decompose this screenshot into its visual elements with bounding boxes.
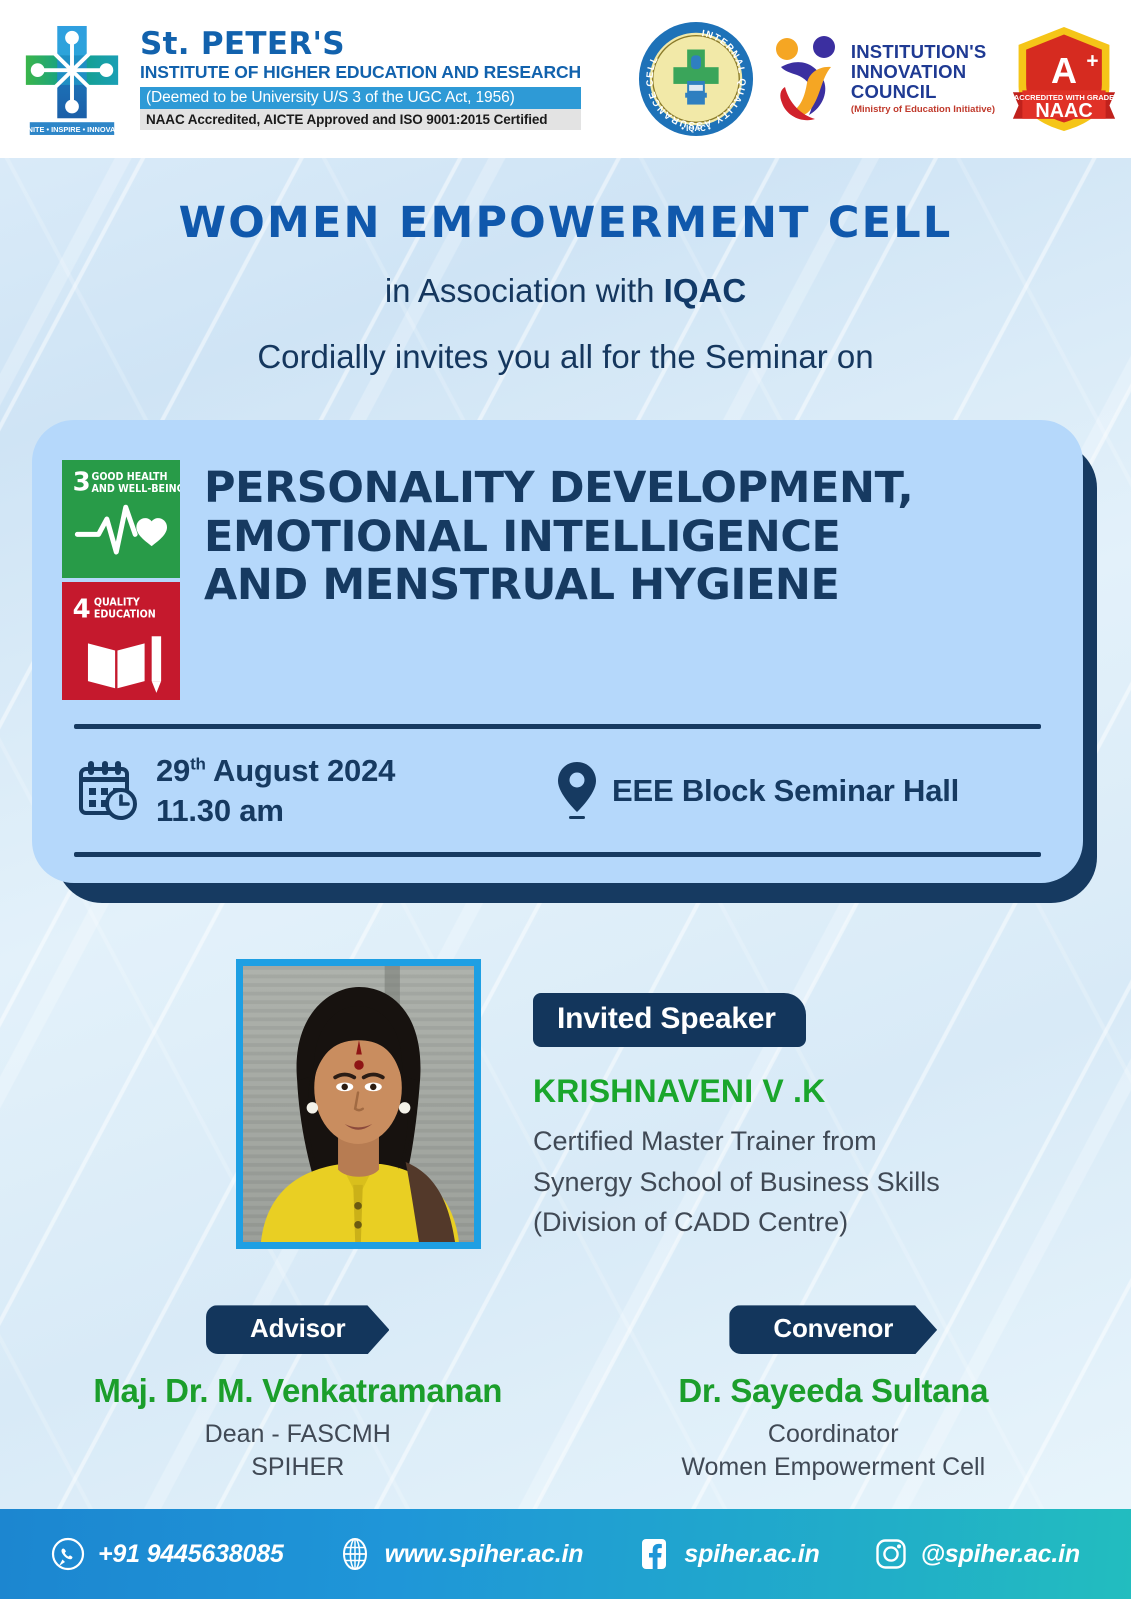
facebook-icon (637, 1537, 671, 1571)
event-meta-row: 29th August 2024 11.30 am EEE Block Semi… (76, 751, 1039, 830)
event-date-rest: August 2024 (206, 753, 395, 788)
invited-speaker-badge: Invited Speaker (533, 993, 806, 1047)
speaker-portrait-image (243, 966, 474, 1242)
location-pin-icon (556, 760, 598, 822)
speaker-detail-3: (Division of CADD Centre) (533, 1203, 940, 1241)
event-venue-block: EEE Block Seminar Hall (556, 760, 1039, 822)
university-identity: St. PETER'S INSTITUTE OF HIGHER EDUCATIO… (140, 28, 581, 130)
poster-header: IGNITE • INSPIRE • INNOVATE St. PETER'S … (0, 0, 1131, 158)
footer-facebook-text: spiher.ac.in (684, 1540, 819, 1569)
header-logo-group: INTERNAL QUALITY ASSURANCE CELL • IQAC • (637, 20, 1117, 138)
sdg-4-quality-education-icon: 4 QUALITY EDUCATION (62, 582, 180, 700)
person-advisor: Advisor Maj. Dr. M. Venkatramanan Dean -… (30, 1305, 566, 1483)
convenor-name: Dr. Sayeeda Sultana (566, 1372, 1102, 1410)
naac-a-plus-badge-icon: A + ACCREDITED WITH GRADE NAAC (1011, 24, 1117, 134)
svg-text:+: + (1086, 50, 1098, 73)
event-date-ordinal: th (190, 755, 206, 774)
footer-contact-phone[interactable]: +91 9445638085 (51, 1537, 284, 1571)
event-date-line: 29th August 2024 (156, 751, 395, 791)
footer-phone-text: +91 9445638085 (98, 1540, 284, 1569)
association-prefix: in Association with (385, 272, 664, 309)
university-subtitle: INSTITUTE OF HIGHER EDUCATION AND RESEAR… (140, 62, 581, 84)
svg-text:4: 4 (73, 594, 91, 624)
speaker-name: KRISHNAVENI V .K (533, 1073, 940, 1110)
footer-instagram-text: @spiher.ac.in (921, 1540, 1080, 1569)
iic-line-1: INSTITUTION'S (851, 42, 995, 62)
footer-contact-instagram[interactable]: @spiher.ac.in (874, 1537, 1080, 1571)
svg-text:• IQAC •: • IQAC • (681, 124, 711, 133)
person-convenor: Convenor Dr. Sayeeda Sultana Coordinator… (566, 1305, 1102, 1483)
card-divider-bottom (74, 852, 1041, 857)
women-empowerment-cell-title: WOMEN EMPOWERMENT CELL (0, 198, 1131, 248)
sdg4-label-2: EDUCATION (94, 607, 156, 620)
spiher-cross-logo-icon: IGNITE • INSPIRE • INNOVATE (18, 20, 126, 138)
sdg-3-good-health-icon: 3 GOOD HEALTH AND WELL-BEING (62, 460, 180, 578)
footer-website-text: www.spiher.ac.in (385, 1540, 584, 1569)
convenor-role-badge: Convenor (729, 1305, 937, 1354)
card-divider-top (74, 724, 1041, 729)
advisor-sub-1: Dean - FASCMH (30, 1418, 566, 1451)
deemed-university-bar: (Deemed to be University U/S 3 of the UG… (140, 87, 581, 109)
advisor-name: Maj. Dr. M. Venkatramanan (30, 1372, 566, 1410)
globe-icon (338, 1537, 372, 1571)
contact-footer: +91 9445638085 www.spiher.ac.in spiher.a… (0, 1509, 1131, 1599)
speaker-detail-1: Certified Master Trainer from (533, 1122, 940, 1160)
topic-line-3: AND MENSTRUAL HYGIENE (204, 561, 1053, 610)
seminar-topic-title: PERSONALITY DEVELOPMENT, EMOTIONAL INTEL… (204, 454, 1053, 610)
svg-text:A: A (1051, 50, 1077, 91)
invitation-headings: WOMEN EMPOWERMENT CELL in Association wi… (0, 158, 1131, 376)
convenor-sub-2: Women Empowerment Cell (566, 1451, 1102, 1484)
iqac-seal-icon: INTERNAL QUALITY ASSURANCE CELL • IQAC • (637, 20, 755, 138)
advisor-role-badge: Advisor (206, 1305, 389, 1354)
iic-line-3: COUNCIL (851, 82, 995, 102)
seminar-topic-card: 3 GOOD HEALTH AND WELL-BEING 4 QUALITY E… (32, 420, 1083, 883)
advisor-sub-2: SPIHER (30, 1451, 566, 1484)
invited-speaker-section: Invited Speaker KRISHNAVENI V .K Certifi… (0, 959, 1131, 1249)
event-date-time-text: 29th August 2024 11.30 am (156, 751, 395, 830)
event-time: 11.30 am (156, 791, 395, 831)
iic-figure-icon (771, 33, 845, 125)
university-name: St. PETER'S (140, 28, 581, 61)
iic-line-2: INNOVATION (851, 62, 995, 82)
event-date-block: 29th August 2024 11.30 am (76, 751, 546, 830)
instagram-icon (874, 1537, 908, 1571)
association-org: IQAC (664, 272, 747, 309)
naac-label-text: NAAC (1035, 100, 1092, 122)
footer-contact-website[interactable]: www.spiher.ac.in (338, 1537, 584, 1571)
topic-line-2: EMOTIONAL INTELLIGENCE (204, 513, 1053, 562)
iic-ministry-note: (Ministry of Education Initiative) (851, 105, 995, 115)
logo-tagline: IGNITE • INSPIRE • INNOVATE (20, 125, 124, 134)
association-line: in Association with IQAC (0, 272, 1131, 310)
convenor-sub-1: Coordinator (566, 1418, 1102, 1451)
svg-text:3: 3 (73, 468, 91, 498)
topic-line-1: PERSONALITY DEVELOPMENT, (204, 464, 1053, 513)
sdg-goal-column: 3 GOOD HEALTH AND WELL-BEING 4 QUALITY E… (62, 454, 180, 700)
institutions-innovation-council-logo: INSTITUTION'S INNOVATION COUNCIL (Minist… (771, 33, 995, 125)
speaker-photo (236, 959, 481, 1249)
organisers-row: Advisor Maj. Dr. M. Venkatramanan Dean -… (0, 1305, 1131, 1483)
seminar-topic-card-wrapper: 3 GOOD HEALTH AND WELL-BEING 4 QUALITY E… (32, 420, 1083, 883)
calendar-clock-icon (76, 758, 142, 824)
accreditation-bar: NAAC Accredited, AICTE Approved and ISO … (140, 109, 581, 130)
whatsapp-icon (51, 1537, 85, 1571)
speaker-info: Invited Speaker KRISHNAVENI V .K Certifi… (533, 959, 940, 1241)
footer-contact-facebook[interactable]: spiher.ac.in (637, 1537, 819, 1571)
event-date-day: 29 (156, 753, 190, 788)
cordial-invite-line: Cordially invites you all for the Semina… (0, 338, 1131, 376)
poster-canvas: IGNITE • INSPIRE • INNOVATE St. PETER'S … (0, 0, 1131, 1599)
speaker-detail-2: Synergy School of Business Skills (533, 1163, 940, 1201)
event-venue-text: EEE Block Seminar Hall (612, 773, 959, 809)
sdg3-label-2: AND WELL-BEING (92, 482, 181, 495)
